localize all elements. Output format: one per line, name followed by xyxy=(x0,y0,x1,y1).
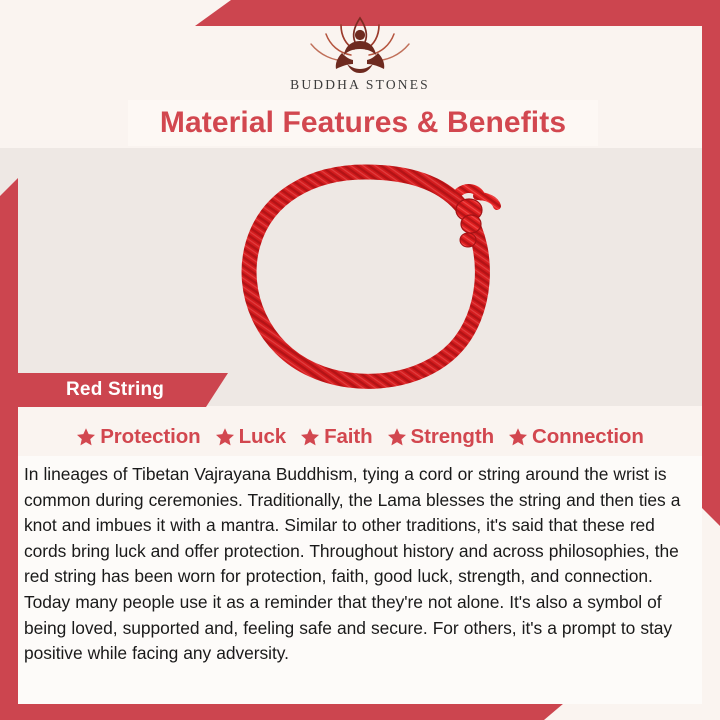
lotus-meditation-icon xyxy=(301,14,419,76)
benefit-label: Protection xyxy=(100,425,200,449)
brand-name: BUDDHA STONES xyxy=(290,77,430,93)
star-icon xyxy=(387,427,407,447)
description-text: In lineages of Tibetan Vajrayana Buddhis… xyxy=(24,462,690,667)
benefit-item: Luck xyxy=(215,425,286,449)
product-tag-label: Red String xyxy=(0,379,164,401)
infographic-page: BUDDHA STONES Material Features & Benefi… xyxy=(0,0,720,720)
benefit-item: Faith xyxy=(300,425,372,449)
product-image xyxy=(205,152,525,402)
star-icon xyxy=(508,427,528,447)
benefit-item: Protection xyxy=(76,425,200,449)
star-icon xyxy=(300,427,320,447)
benefit-item: Connection xyxy=(508,425,644,449)
benefit-label: Connection xyxy=(532,425,644,449)
benefit-label: Luck xyxy=(239,425,286,449)
product-tag: Red String xyxy=(0,373,228,407)
benefit-label: Strength xyxy=(411,425,494,449)
brand-logo: BUDDHA STONES xyxy=(0,14,720,93)
page-title: Material Features & Benefits xyxy=(160,106,566,140)
benefits-list: Protection Luck Faith Strength Connectio… xyxy=(0,420,720,454)
title-banner: Material Features & Benefits xyxy=(128,100,598,146)
benefit-label: Faith xyxy=(324,425,372,449)
benefit-item: Strength xyxy=(387,425,494,449)
description-panel: In lineages of Tibetan Vajrayana Buddhis… xyxy=(18,456,702,704)
star-icon xyxy=(215,427,235,447)
star-icon xyxy=(76,427,96,447)
